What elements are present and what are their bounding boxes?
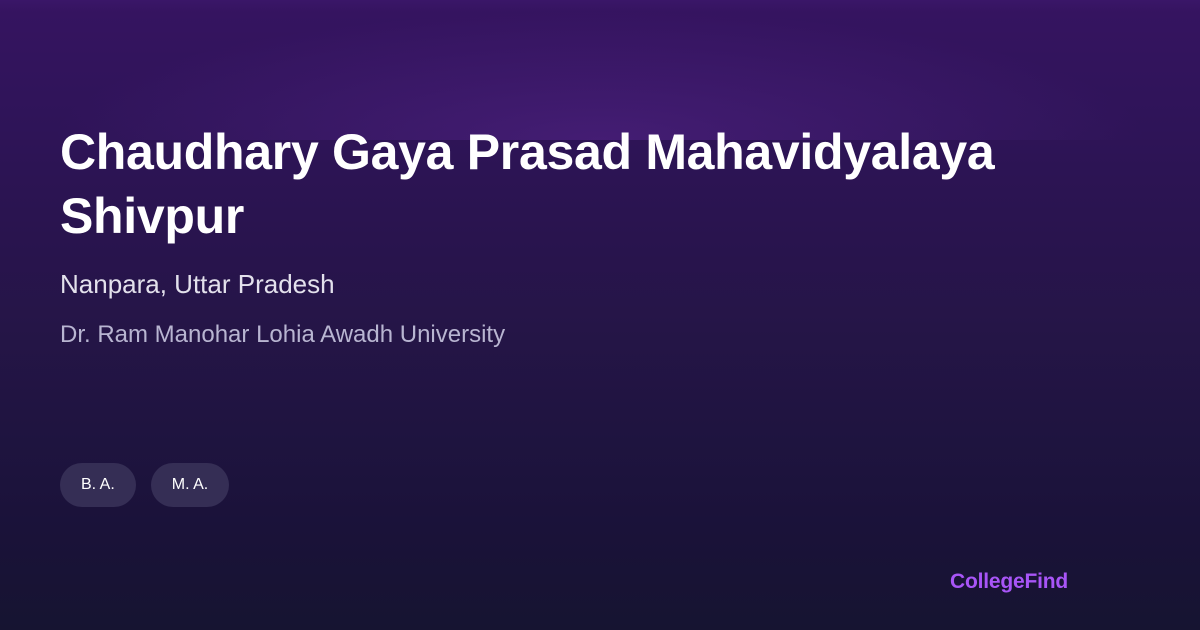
affiliated-university: Dr. Ram Manohar Lohia Awadh University: [60, 320, 1080, 350]
college-location: Nanpara, Uttar Pradesh: [60, 268, 1080, 300]
page-title: Chaudhary Gaya Prasad Mahavidyalaya Shiv…: [60, 120, 1070, 248]
college-og-card: Chaudhary Gaya Prasad Mahavidyalaya Shiv…: [0, 0, 1200, 630]
background-glow: [0, 0, 1200, 140]
course-badge-ma[interactable]: M. A.: [151, 463, 229, 507]
course-badge-list: B. A. M. A.: [60, 463, 229, 507]
card-content: Chaudhary Gaya Prasad Mahavidyalaya Shiv…: [60, 120, 1080, 350]
brand-logo-text[interactable]: CollegeFind: [950, 570, 1068, 594]
course-badge-ba[interactable]: B. A.: [60, 463, 136, 507]
